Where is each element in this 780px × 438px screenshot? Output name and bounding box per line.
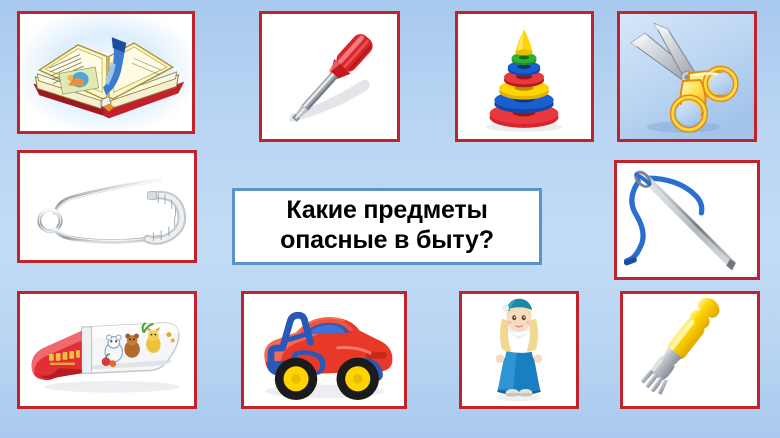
card-fork[interactable] [620,291,760,409]
fork-icon [623,294,757,407]
slide-canvas: Какие предметы опасные в быту? [0,0,780,438]
kitchen-knife-icon [20,294,194,408]
ring-stacker-icon [458,14,591,139]
open-book-icon [20,14,192,133]
screwdriver-icon [262,14,397,139]
card-toy-car[interactable] [241,291,407,409]
page-title: Какие предметы опасные в быту? [235,194,539,259]
toy-car-icon [244,294,404,408]
doll-icon [462,294,576,406]
card-screwdriver[interactable] [259,11,400,142]
card-knife[interactable] [17,291,197,409]
scissors-icon [620,14,754,139]
card-book[interactable] [17,11,195,134]
safety-pin-icon [20,153,194,262]
question-title-box: Какие предметы опасные в быту? [232,188,542,265]
card-needle[interactable] [614,160,760,280]
card-pyramid[interactable] [455,11,594,142]
card-safety-pin[interactable] [17,150,197,263]
card-doll[interactable] [459,291,579,409]
needle-thread-icon [617,163,757,278]
card-scissors[interactable] [617,11,757,142]
